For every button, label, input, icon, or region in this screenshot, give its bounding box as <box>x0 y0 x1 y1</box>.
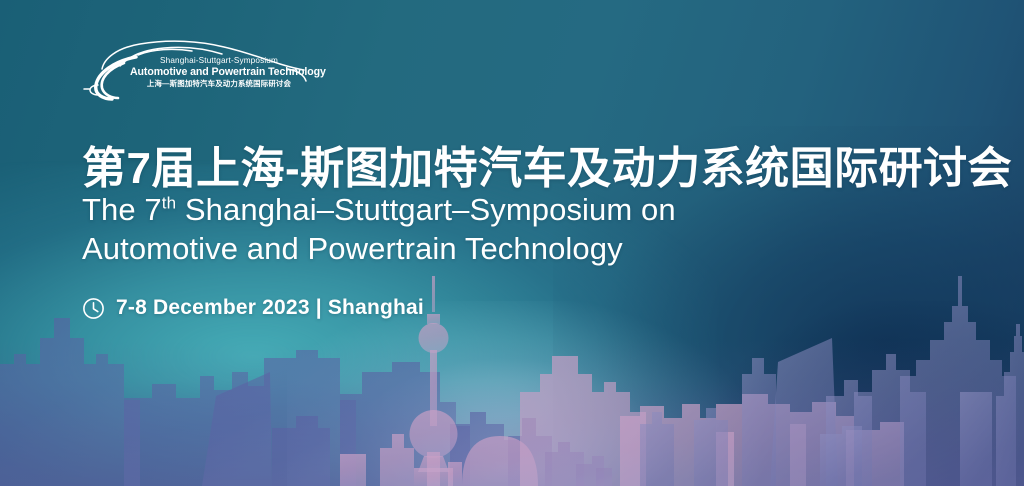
page-title-chinese: 第7届上海-斯图加特汽车及动力系统国际研讨会 <box>82 132 1012 196</box>
title-en-ordinal: th <box>162 194 176 213</box>
logo-text-block: Shanghai-Stuttgart-Symposium Automotive … <box>130 57 308 87</box>
title-en-prefix: The 7 <box>82 192 162 227</box>
event-date-row: 7-8 December 2023 | Shanghai <box>82 296 424 320</box>
symposium-logo: Shanghai-Stuttgart-Symposium Automotive … <box>78 33 310 101</box>
event-date-text: 7-8 December 2023 | Shanghai <box>116 296 424 320</box>
logo-line-chinese: 上海—斯图加特汽车及动力系统国际研讨会 <box>130 80 308 88</box>
title-en-line2: Automotive and Powertrain Technology <box>82 231 623 266</box>
skyline-right-buildings <box>640 276 1024 486</box>
conference-banner: Shanghai-Stuttgart-Symposium Automotive … <box>0 0 1024 486</box>
page-title-english: The 7th Shanghai–Stuttgart–Symposium on … <box>82 190 676 269</box>
logo-line-symposium: Shanghai-Stuttgart-Symposium <box>130 57 308 66</box>
logo-line-technology: Automotive and Powertrain Technology <box>130 67 308 78</box>
title-en-line1-rest: Shanghai–Stuttgart–Symposium on <box>176 192 676 227</box>
clock-icon <box>82 297 105 320</box>
